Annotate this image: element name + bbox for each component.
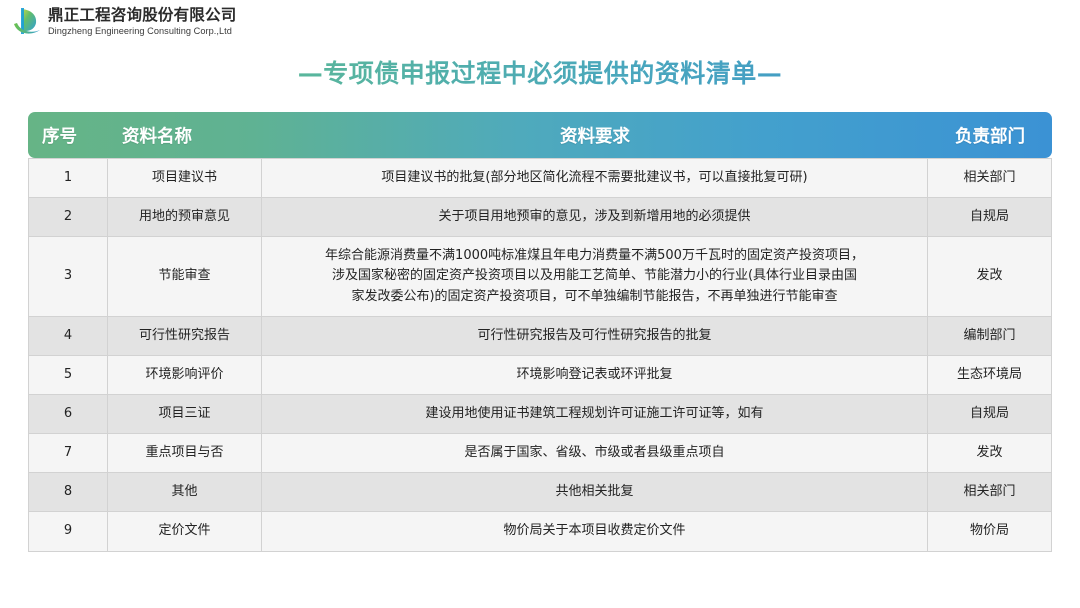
cell-material-name: 环境影响评价 — [108, 356, 262, 395]
cell-material-name: 节能审查 — [108, 237, 262, 316]
cell-seq: 1 — [28, 158, 108, 198]
cell-department: 物价局 — [928, 512, 1052, 551]
cell-seq: 2 — [28, 198, 108, 237]
cell-material-name: 其他 — [108, 473, 262, 512]
requirement-line: 是否属于国家、省级、市级或者县级重点项自 — [270, 443, 919, 463]
requirement-text: 可行性研究报告及可行性研究报告的批复 — [270, 326, 919, 346]
cell-requirement: 建设用地使用证书建筑工程规划许可证施工许可证等，如有 — [262, 395, 928, 434]
cell-seq: 3 — [28, 237, 108, 316]
table-row: 9定价文件物价局关于本项目收费定价文件物价局 — [28, 512, 1052, 551]
cell-requirement: 关于项目用地预审的意见，涉及到新增用地的必须提供 — [262, 198, 928, 237]
cell-material-name: 重点项目与否 — [108, 434, 262, 473]
cell-material-name: 项目三证 — [108, 395, 262, 434]
cell-requirement: 项目建议书的批复(部分地区简化流程不需要批建议书，可以直接批复可研) — [262, 158, 928, 198]
table-row: 4可行性研究报告可行性研究报告及可行性研究报告的批复编制部门 — [28, 317, 1052, 356]
requirement-text: 建设用地使用证书建筑工程规划许可证施工许可证等，如有 — [270, 404, 919, 424]
cell-department: 相关部门 — [928, 473, 1052, 512]
cell-requirement: 环境影响登记表或环评批复 — [262, 356, 928, 395]
cell-requirement: 年综合能源消费量不满1000吨标准煤且年电力消费量不满500万千瓦时的固定资产投… — [262, 237, 928, 316]
requirement-line: 项目建议书的批复(部分地区简化流程不需要批建议书，可以直接批复可研) — [270, 168, 919, 188]
cell-requirement: 共他相关批复 — [262, 473, 928, 512]
cell-department: 自规局 — [928, 395, 1052, 434]
table-row: 8其他共他相关批复相关部门 — [28, 473, 1052, 512]
materials-table-wrapper: 序号 资料名称 资料要求 负责部门 1项目建议书项目建议书的批复(部分地区简化流… — [28, 112, 1052, 552]
company-name-cn: 鼎正工程咨询股份有限公司 — [48, 8, 236, 24]
requirement-line: 共他相关批复 — [270, 482, 919, 502]
cell-department: 编制部门 — [928, 317, 1052, 356]
column-header-requirement: 资料要求 — [262, 112, 928, 158]
cell-department: 自规局 — [928, 198, 1052, 237]
slide-page: 鼎正工程咨询股份有限公司 Dingzheng Engineering Consu… — [0, 0, 1080, 608]
requirement-line: 可行性研究报告及可行性研究报告的批复 — [270, 326, 919, 346]
requirement-line: 建设用地使用证书建筑工程规划许可证施工许可证等，如有 — [270, 404, 919, 424]
cell-seq: 5 — [28, 356, 108, 395]
requirement-line: 物价局关于本项目收费定价文件 — [270, 521, 919, 541]
cell-seq: 7 — [28, 434, 108, 473]
page-title: —专项债申报过程中必须提供的资料清单— — [0, 54, 1080, 90]
cell-requirement: 物价局关于本项目收费定价文件 — [262, 512, 928, 551]
table-row: 5环境影响评价环境影响登记表或环评批复生态环境局 — [28, 356, 1052, 395]
cell-department: 发改 — [928, 237, 1052, 316]
table-row: 2用地的预审意见关于项目用地预审的意见，涉及到新增用地的必须提供自规局 — [28, 198, 1052, 237]
cell-requirement: 是否属于国家、省级、市级或者县级重点项自 — [262, 434, 928, 473]
column-header-name: 资料名称 — [108, 112, 262, 158]
table-header-row: 序号 资料名称 资料要求 负责部门 — [28, 112, 1052, 158]
requirement-line: 涉及国家秘密的固定资产投资项目以及用能工艺简单、节能潜力小的行业(具体行业目录由… — [270, 266, 919, 286]
cell-department: 发改 — [928, 434, 1052, 473]
cell-seq: 6 — [28, 395, 108, 434]
company-name-en: Dingzheng Engineering Consulting Corp.,L… — [48, 27, 236, 36]
column-header-department: 负责部门 — [928, 112, 1052, 158]
table-row: 7重点项目与否是否属于国家、省级、市级或者县级重点项自发改 — [28, 434, 1052, 473]
cell-seq: 4 — [28, 317, 108, 356]
cell-material-name: 定价文件 — [108, 512, 262, 551]
requirement-text: 共他相关批复 — [270, 482, 919, 502]
cell-material-name: 项目建议书 — [108, 158, 262, 198]
requirement-line: 年综合能源消费量不满1000吨标准煤且年电力消费量不满500万千瓦时的固定资产投… — [270, 246, 919, 266]
table-row: 1项目建议书项目建议书的批复(部分地区简化流程不需要批建议书，可以直接批复可研)… — [28, 158, 1052, 198]
table-body: 1项目建议书项目建议书的批复(部分地区简化流程不需要批建议书，可以直接批复可研)… — [28, 158, 1052, 552]
column-header-seq: 序号 — [28, 112, 108, 158]
leaf-d-logo-icon — [12, 6, 42, 38]
cell-department: 相关部门 — [928, 158, 1052, 198]
requirement-text: 项目建议书的批复(部分地区简化流程不需要批建议书，可以直接批复可研) — [270, 168, 919, 188]
table-row: 3节能审查年综合能源消费量不满1000吨标准煤且年电力消费量不满500万千瓦时的… — [28, 237, 1052, 316]
cell-department: 生态环境局 — [928, 356, 1052, 395]
requirement-text: 物价局关于本项目收费定价文件 — [270, 521, 919, 541]
cell-material-name: 可行性研究报告 — [108, 317, 262, 356]
table-row: 6项目三证建设用地使用证书建筑工程规划许可证施工许可证等，如有自规局 — [28, 395, 1052, 434]
table-head: 序号 资料名称 资料要求 负责部门 — [28, 112, 1052, 158]
requirement-text: 年综合能源消费量不满1000吨标准煤且年电力消费量不满500万千瓦时的固定资产投… — [270, 246, 919, 306]
company-name-block: 鼎正工程咨询股份有限公司 Dingzheng Engineering Consu… — [48, 8, 236, 36]
cell-requirement: 可行性研究报告及可行性研究报告的批复 — [262, 317, 928, 356]
materials-table: 序号 资料名称 资料要求 负责部门 1项目建议书项目建议书的批复(部分地区简化流… — [28, 112, 1052, 552]
requirement-text: 是否属于国家、省级、市级或者县级重点项自 — [270, 443, 919, 463]
cell-material-name: 用地的预审意见 — [108, 198, 262, 237]
cell-seq: 9 — [28, 512, 108, 551]
cell-seq: 8 — [28, 473, 108, 512]
requirement-line: 家发改委公布)的固定资产投资项目，可不单独编制节能报告，不再单独进行节能审查 — [270, 287, 919, 307]
requirement-line: 关于项目用地预审的意见，涉及到新增用地的必须提供 — [270, 207, 919, 227]
requirement-text: 环境影响登记表或环评批复 — [270, 365, 919, 385]
company-logo: 鼎正工程咨询股份有限公司 Dingzheng Engineering Consu… — [12, 6, 236, 38]
requirement-text: 关于项目用地预审的意见，涉及到新增用地的必须提供 — [270, 207, 919, 227]
requirement-line: 环境影响登记表或环评批复 — [270, 365, 919, 385]
